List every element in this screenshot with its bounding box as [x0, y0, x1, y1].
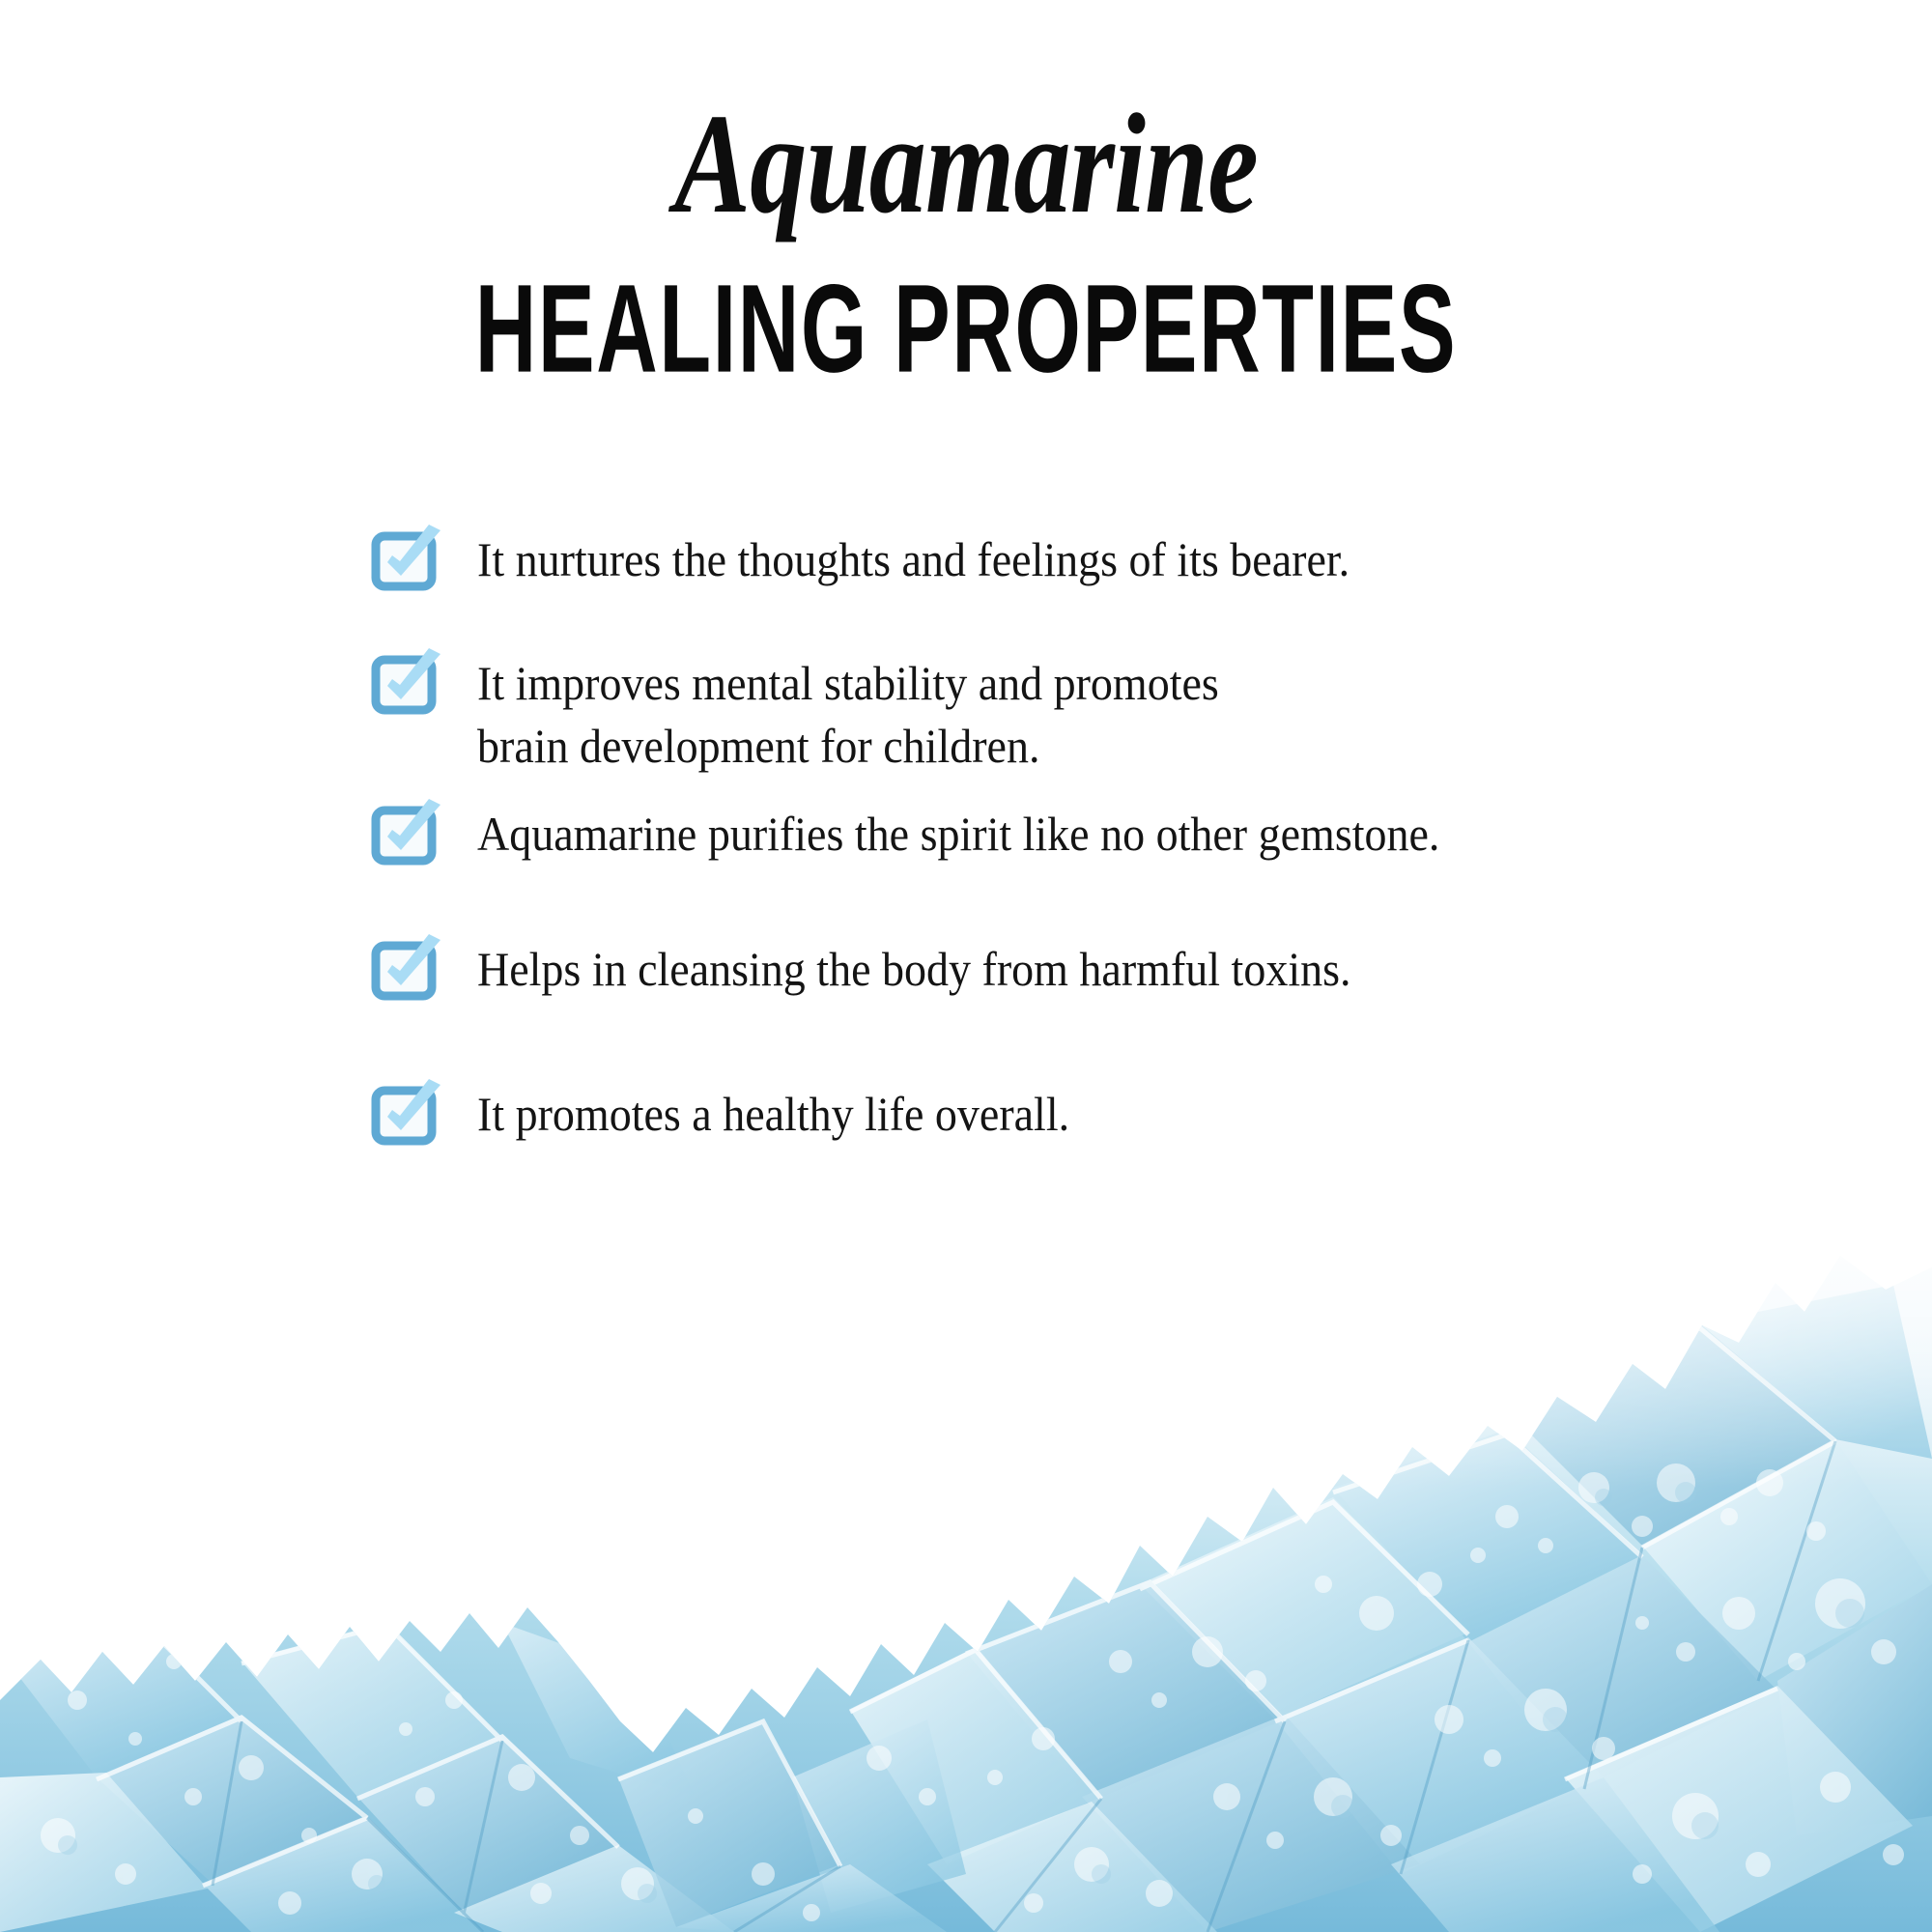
poster-header: Aquamarine HEALING PROPERTIES	[0, 0, 1932, 383]
list-item-label: It improves mental stability and promote…	[477, 650, 1219, 778]
page-title: Aquamarine	[193, 93, 1739, 236]
ice-cubes-photo	[0, 1198, 1932, 1932]
healing-properties-list: It nurtures the thoughts and feelings of…	[371, 526, 1801, 1151]
page-subtitle: HEALING PROPERTIES	[193, 267, 1739, 392]
poster-canvas: Aquamarine HEALING PROPERTIES It nurture…	[0, 0, 1932, 1932]
list-item-label: Helps in cleansing the body from harmful…	[477, 936, 1351, 1001]
list-item: Aquamarine purifies the spirit like no o…	[371, 801, 1801, 870]
list-item-label: It nurtures the thoughts and feelings of…	[477, 526, 1350, 591]
checked-checkbox-icon	[371, 523, 444, 596]
list-item: It improves mental stability and promote…	[371, 650, 1801, 778]
list-item: Helps in cleansing the body from harmful…	[371, 936, 1801, 1006]
checked-checkbox-icon	[371, 797, 444, 870]
checked-checkbox-icon	[371, 932, 444, 1006]
list-item: It nurtures the thoughts and feelings of…	[371, 526, 1801, 596]
checked-checkbox-icon	[371, 1077, 444, 1151]
list-item-label: Aquamarine purifies the spirit like no o…	[477, 801, 1439, 866]
list-item-label: It promotes a healthy life overall.	[477, 1081, 1069, 1146]
checked-checkbox-icon	[371, 646, 444, 720]
list-item: It promotes a healthy life overall.	[371, 1081, 1801, 1151]
